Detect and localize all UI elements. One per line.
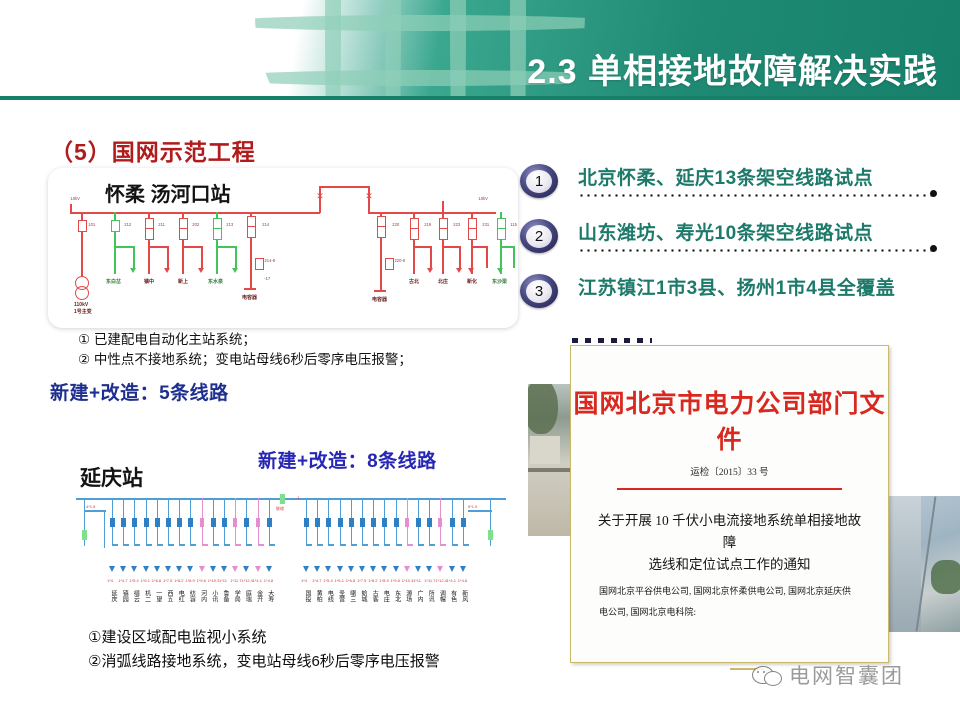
list-item[interactable]: 3 江苏镇江1市3县、扬州1市4县全覆盖 [520, 270, 950, 325]
feeder-value: 1*11 [413, 578, 421, 583]
feeder-arrow [120, 566, 126, 572]
feeder-label: 圣营 [337, 590, 346, 618]
feeder-breaker [382, 518, 387, 527]
feeder-breaker [110, 518, 115, 527]
feeder-breaker [304, 518, 309, 527]
feeder-label: 大寿 [266, 590, 275, 618]
feeder-label: 纺容 [187, 590, 196, 618]
feeder-label: 西五 [165, 590, 174, 618]
feeder-branch [351, 544, 357, 546]
feeder-branch [384, 544, 390, 546]
feeder-breaker [461, 518, 466, 527]
feeder-value: 1*4.7 [118, 578, 127, 583]
feeder-branch [224, 544, 230, 546]
feeder-value: 1*6.8 [152, 578, 161, 583]
feeder-breaker [177, 518, 182, 527]
feeder-breaker [188, 518, 193, 527]
bus-label-left: 10kV [70, 196, 79, 201]
feeder-branch [373, 544, 379, 546]
slide-root: 2.3 单相接地故障解决实践 （5）国网示范工程 怀柔 汤河口站 10kV ✕ … [0, 0, 960, 720]
feeder-branch [269, 544, 275, 546]
feeder-breaker [427, 518, 432, 527]
feeder-arrow [426, 566, 432, 572]
feeder-branch [418, 544, 424, 546]
number-badge: 2 [520, 219, 558, 253]
feeder-breaker [450, 518, 455, 527]
note-line: ①建设区域配电监视小系统 [88, 626, 440, 650]
header-rule [0, 96, 960, 100]
feeder-arrow [314, 566, 320, 572]
feeder-branch [340, 544, 346, 546]
badge-number: 2 [526, 225, 552, 248]
slide-header: 2.3 单相接地故障解决实践 [0, 0, 960, 100]
note-line: ② 中性点不接地系统；变电站母线6秒后零序电压报警； [78, 350, 412, 370]
feeder-arrow [109, 566, 115, 572]
doc-body-line-2: 电公司, 国网北京电科院: [599, 602, 864, 623]
feeder-arrow [131, 566, 137, 572]
feeder-label: 一望 [154, 590, 163, 618]
feeder-value: 1*4.1 [447, 578, 456, 583]
feeder-branch [190, 544, 196, 546]
feeder-branch [112, 544, 118, 546]
feeder-arrow [303, 566, 309, 572]
feeder-value: 1*6.1 [335, 578, 344, 583]
doc-subject-line-1: 关于开展 10 千伏小电流接地系统单相接地故障 [597, 510, 862, 554]
doc-body-line-1: 国网北京平谷供电公司, 国网北京怀柔供电公司, 国网北京延庆供 [599, 581, 864, 602]
feeder-label: 广内 [415, 590, 424, 618]
feeder-label: 蛤城 [359, 590, 368, 618]
feeder-branch [202, 544, 208, 546]
feeder-value: 1*12.4 [435, 578, 447, 583]
dotted-rule [578, 194, 934, 197]
feeder-branch [258, 544, 264, 546]
feeder-breaker [222, 518, 227, 527]
rule-end-dot [930, 190, 937, 197]
feeder-arrow [255, 566, 261, 572]
feeder-label: 延庆 [109, 590, 118, 618]
feeder-arrow [381, 566, 387, 572]
feeder-label: 黄柏 [314, 590, 323, 618]
doc-subject-line-2: 选线和定位试点工作的通知 [597, 554, 862, 576]
feeder-breaker [315, 518, 320, 527]
feeder-value: 1*8.9 [185, 578, 194, 583]
feeder-label: 调帽 [437, 590, 446, 618]
list-item[interactable]: 1 北京怀柔、延庆13条架空线路试点 [520, 160, 950, 215]
diagram2-title: 延庆站 [80, 462, 143, 492]
feeder-label: 古客 [370, 590, 379, 618]
feeder-breaker [200, 518, 204, 527]
feeder-breaker [132, 518, 137, 527]
feeder-value: 1*7.5 [163, 578, 172, 583]
feeder-breaker [244, 518, 249, 527]
feeder-label: 东北 [393, 590, 402, 618]
doc-dash-decoration [572, 338, 652, 343]
feeder-breaker [121, 518, 126, 527]
feeder-branch [179, 544, 185, 546]
wechat-icon [752, 664, 782, 686]
feeder-arrow [143, 566, 149, 572]
feeder-label: 源场 [404, 590, 413, 618]
bus-label-right: 10kV [478, 196, 487, 201]
feeder-value: 1*4.8 [458, 578, 467, 583]
feeder-label: 电线 [325, 590, 334, 618]
feeder-branch [362, 544, 368, 546]
feeder-branch [440, 544, 446, 546]
list-item[interactable]: 2 山东潍坊、寿光10条架空线路试点 [520, 215, 950, 270]
feeder-branch [452, 544, 458, 546]
number-badge: 3 [520, 274, 558, 308]
feeder-label: 金开 [255, 590, 264, 618]
feeder-branch [235, 544, 241, 546]
feeder-arrow [210, 566, 216, 572]
feeder-value: 1*9.6 [197, 578, 206, 583]
feeder-arrow [187, 566, 193, 572]
note-line: ① 已建配电自动化主站系统； [78, 330, 412, 350]
list-item-label: 北京怀柔、延庆13条架空线路试点 [578, 163, 873, 190]
blue-label-8-lines: 新建+改造：8条线路 [258, 446, 437, 473]
diagram1-notes: ① 已建配电自动化主站系统； ② 中性点不接地系统；变电站母线6秒后零序电压报警… [78, 330, 412, 370]
feeder-label: 缙云 [131, 590, 140, 618]
diagram2-notes: ①建设区域配电监视小系统 ②消弧线路接地系统，变电站母线6秒后零序电压报警 [88, 626, 440, 674]
feeder-breaker [267, 518, 272, 527]
feeder-value: 1*4 [301, 578, 307, 583]
feeder-arrow [176, 566, 182, 572]
list-item-label: 山东潍坊、寿光10条架空线路试点 [578, 218, 873, 245]
feeder-arrow [393, 566, 399, 572]
feeder-breaker [371, 518, 376, 527]
doc-subject: 关于开展 10 千伏小电流接地系统单相接地故障 选线和定位试点工作的通知 [597, 510, 862, 576]
pilot-projects-list: 1 北京怀柔、延庆13条架空线路试点 2 山东潍坊、寿光10条架空线路试点 3 … [520, 160, 950, 325]
feeder-arrow [337, 566, 343, 572]
feeder-label: 机二 [143, 590, 152, 618]
feeder-arrow [449, 566, 455, 572]
feeder-branch [306, 544, 312, 546]
feeder-value: 1*10.3 [402, 578, 414, 583]
feeder-breaker [349, 518, 354, 527]
feeder-value: 1*6.1 [141, 578, 150, 583]
feeder-value: 1*12.4 [241, 578, 253, 583]
diagram1-title: 怀柔 汤河口站 [105, 178, 231, 207]
huairou-station-diagram-card: 怀柔 汤河口站 10kV ✕ ✕ 10kV 101 110kV 1号主变 [48, 168, 518, 328]
feeder-branch [246, 544, 252, 546]
feeder-value: 1*6.8 [346, 578, 355, 583]
feeder-branch [168, 544, 174, 546]
feeder-branch [407, 544, 413, 546]
feeder-branch [429, 544, 435, 546]
feeder-arrow [415, 566, 421, 572]
watermark: 电网智囊团 [752, 660, 904, 690]
feeder-breaker [233, 518, 237, 527]
feeder-value: 1*7.5 [357, 578, 366, 583]
feeder-breaker [256, 518, 260, 527]
feeder-branch [317, 544, 323, 546]
number-badge: 1 [520, 164, 558, 198]
feeder-value: 1*4.7 [312, 578, 321, 583]
doc-title: 国网北京市电力公司部门文件 [571, 384, 888, 456]
feeder-branch [123, 544, 129, 546]
feeder-breaker [326, 518, 331, 527]
feeder-breaker [211, 518, 216, 527]
feeder-breaker [155, 518, 160, 527]
feeder-value: 1*4.1 [253, 578, 262, 583]
feeder-breaker [405, 518, 409, 527]
feeder-breaker [360, 518, 365, 527]
feeder-arrow [232, 566, 238, 572]
feeder-label: 鲁备 [221, 590, 230, 618]
feeder-label: 国投 [303, 590, 312, 618]
feeder-arrow [154, 566, 160, 572]
feeder-breaker [438, 518, 442, 527]
watermark-label: 电网智囊团 [789, 660, 904, 690]
feeder-arrow [221, 566, 227, 572]
list-item-label: 江苏镇江1市3县、扬州1市4县全覆盖 [578, 273, 895, 300]
feeder-value: 1*11 [219, 578, 227, 583]
feeder-arrow [325, 566, 331, 572]
page-title: 2.3 单相接地故障解决实践 [527, 44, 938, 93]
feeder-label: 电庄 [381, 590, 390, 618]
feeder-arrow [359, 566, 365, 572]
feeder-branch [146, 544, 152, 546]
feeder-label: 新风 [460, 590, 469, 618]
feeder-label: 有色 [449, 590, 458, 618]
feeder-value: 1*11.7 [230, 578, 241, 583]
feeder-value: 1*8.2 [368, 578, 377, 583]
feeder-value: 1*10.3 [208, 578, 220, 583]
feeder-value: 1*8.9 [379, 578, 388, 583]
feeder-arrow [437, 566, 443, 572]
blue-label-5-lines: 新建+改造：5条线路 [50, 378, 229, 405]
feeder-branch [134, 544, 140, 546]
feeder-arrow [199, 566, 205, 572]
doc-red-rule [617, 488, 842, 490]
official-document: 国网北京市电力公司部门文件 运检〔2015〕33 号 关于开展 10 千伏小电流… [570, 345, 889, 663]
feeder-arrow [460, 566, 466, 572]
feeder-branch [463, 544, 469, 546]
feeder-value: 1*5.4 [323, 578, 332, 583]
feeder-label: 所讯 [426, 590, 435, 618]
feeder-breaker [338, 518, 343, 527]
feeder-arrow [404, 566, 410, 572]
feeder-breaker [166, 518, 171, 527]
feeder-branch [328, 544, 334, 546]
feeder-arrow [243, 566, 249, 572]
feeder-label: 河内 [199, 590, 208, 618]
feeder-value: 1*11.7 [424, 578, 435, 583]
feeder-label: 小讯 [210, 590, 219, 618]
feeder-label: 喇三 [348, 590, 357, 618]
feeder-arrow [165, 566, 171, 572]
feeder-value: 1*4.8 [264, 578, 273, 583]
feeder-value: 1*5.4 [129, 578, 138, 583]
doc-number: 运检〔2015〕33 号 [571, 464, 888, 478]
note-line: ②消弧线路接地系统，变电站母线6秒后零序电压报警 [88, 650, 440, 674]
rule-end-dot [930, 245, 937, 252]
feeder-label: 电红 [176, 590, 185, 618]
badge-number: 3 [526, 280, 552, 303]
feeder-value: 1*9.6 [391, 578, 400, 583]
feeder-value: 1*8.2 [174, 578, 183, 583]
feeder-arrow [266, 566, 272, 572]
feeder-breaker [144, 518, 149, 527]
feeder-arrow [370, 566, 376, 572]
feeder-value: 1*4 [107, 578, 113, 583]
feeder-breaker [394, 518, 399, 527]
feeder-label: 学局 [232, 590, 241, 618]
feeder-breaker [416, 518, 421, 527]
feeder-branch [157, 544, 163, 546]
feeder-branch [213, 544, 219, 546]
feeder-label: 庭瑞 [243, 590, 252, 618]
yanqing-station-diagram: 联络 -1 4*1.5 5*1.5 1*4延庆1*4.7镇园1*5.4缙云1*6… [70, 492, 515, 620]
section-title: （5）国网示范工程 [50, 133, 256, 167]
dotted-rule [578, 249, 934, 252]
doc-body: 国网北京平谷供电公司, 国网北京怀柔供电公司, 国网北京延庆供 电公司, 国网北… [599, 581, 864, 623]
badge-number: 1 [526, 170, 552, 193]
feeder-label: 镇园 [120, 590, 129, 618]
feeder-branch [396, 544, 402, 546]
feeder-arrow [348, 566, 354, 572]
